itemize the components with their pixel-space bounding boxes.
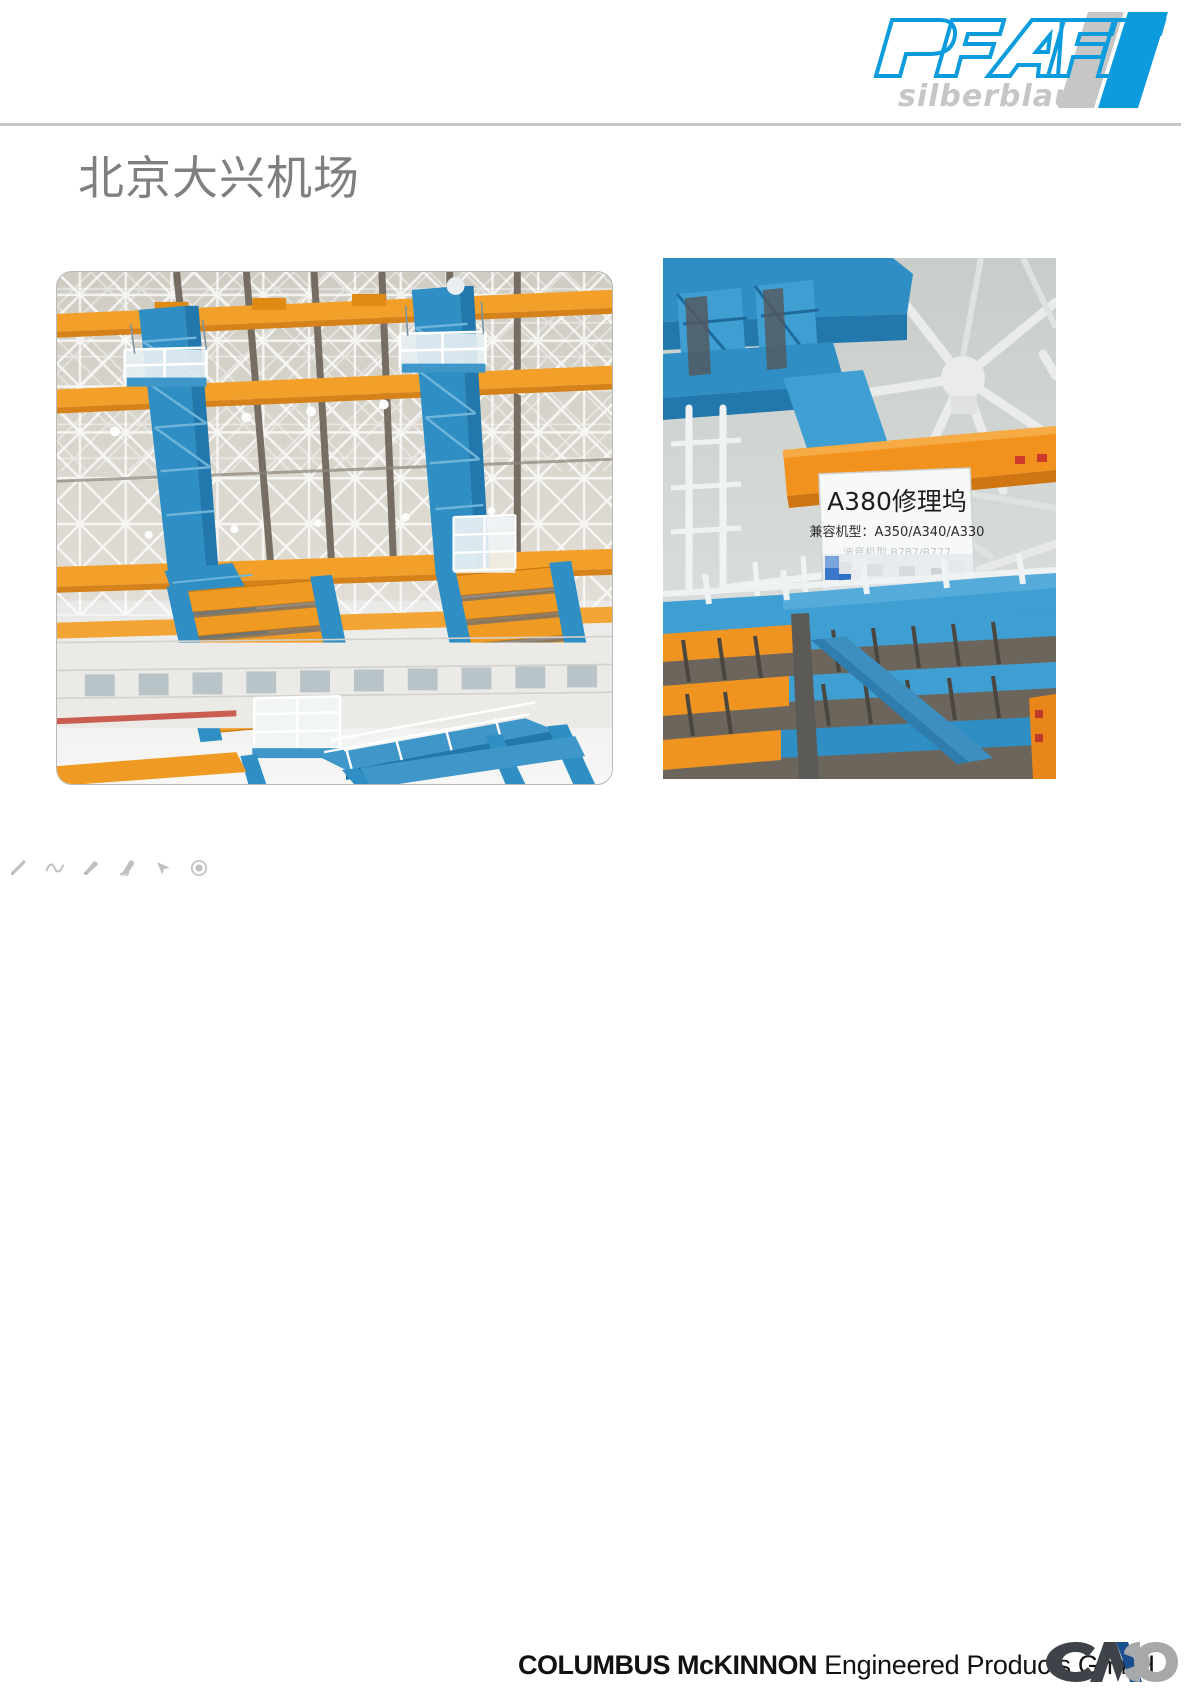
pointer-icon[interactable] xyxy=(152,858,174,878)
header-divider xyxy=(0,123,1181,126)
slide: silberblau 北京大兴机场 xyxy=(0,0,1196,880)
page-title: 北京大兴机场 xyxy=(78,148,360,208)
cmco-logo xyxy=(1040,1636,1186,1688)
company-name-bold: COLUMBUS McKINNON xyxy=(518,1650,817,1680)
ink-annotation-toolbar[interactable] xyxy=(8,858,210,878)
sign-line-1: A380修理坞 xyxy=(827,487,967,516)
hangar-docking-system-photo xyxy=(56,271,613,785)
a380-repair-dock-photo: A380修理坞 兼容机型：A350/A340/A330 波音机型 B787/B7… xyxy=(663,258,1056,779)
ink-stroke-icon[interactable] xyxy=(44,858,66,878)
slide-header: silberblau xyxy=(0,0,1196,125)
pen-icon[interactable] xyxy=(8,858,30,878)
sign-line-2: 兼容机型：A350/A340/A330 xyxy=(810,524,985,540)
pfaff-silberblau-logo: silberblau xyxy=(862,8,1180,113)
highlighter-icon[interactable] xyxy=(80,858,102,878)
laser-pointer-icon[interactable] xyxy=(188,858,210,878)
eraser-icon[interactable] xyxy=(116,858,138,878)
svg-text:silberblau: silberblau xyxy=(898,79,1076,113)
